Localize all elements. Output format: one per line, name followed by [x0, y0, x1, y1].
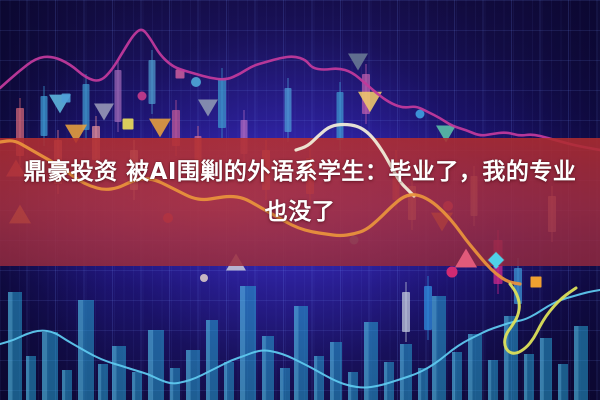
- page-title: 鼎豪投资 被AI围剿的外语系学生：毕业了，我的专业也没了: [0, 152, 600, 232]
- banner-image: 鼎豪投资 被AI围剿的外语系学生：毕业了，我的专业也没了: [0, 0, 600, 400]
